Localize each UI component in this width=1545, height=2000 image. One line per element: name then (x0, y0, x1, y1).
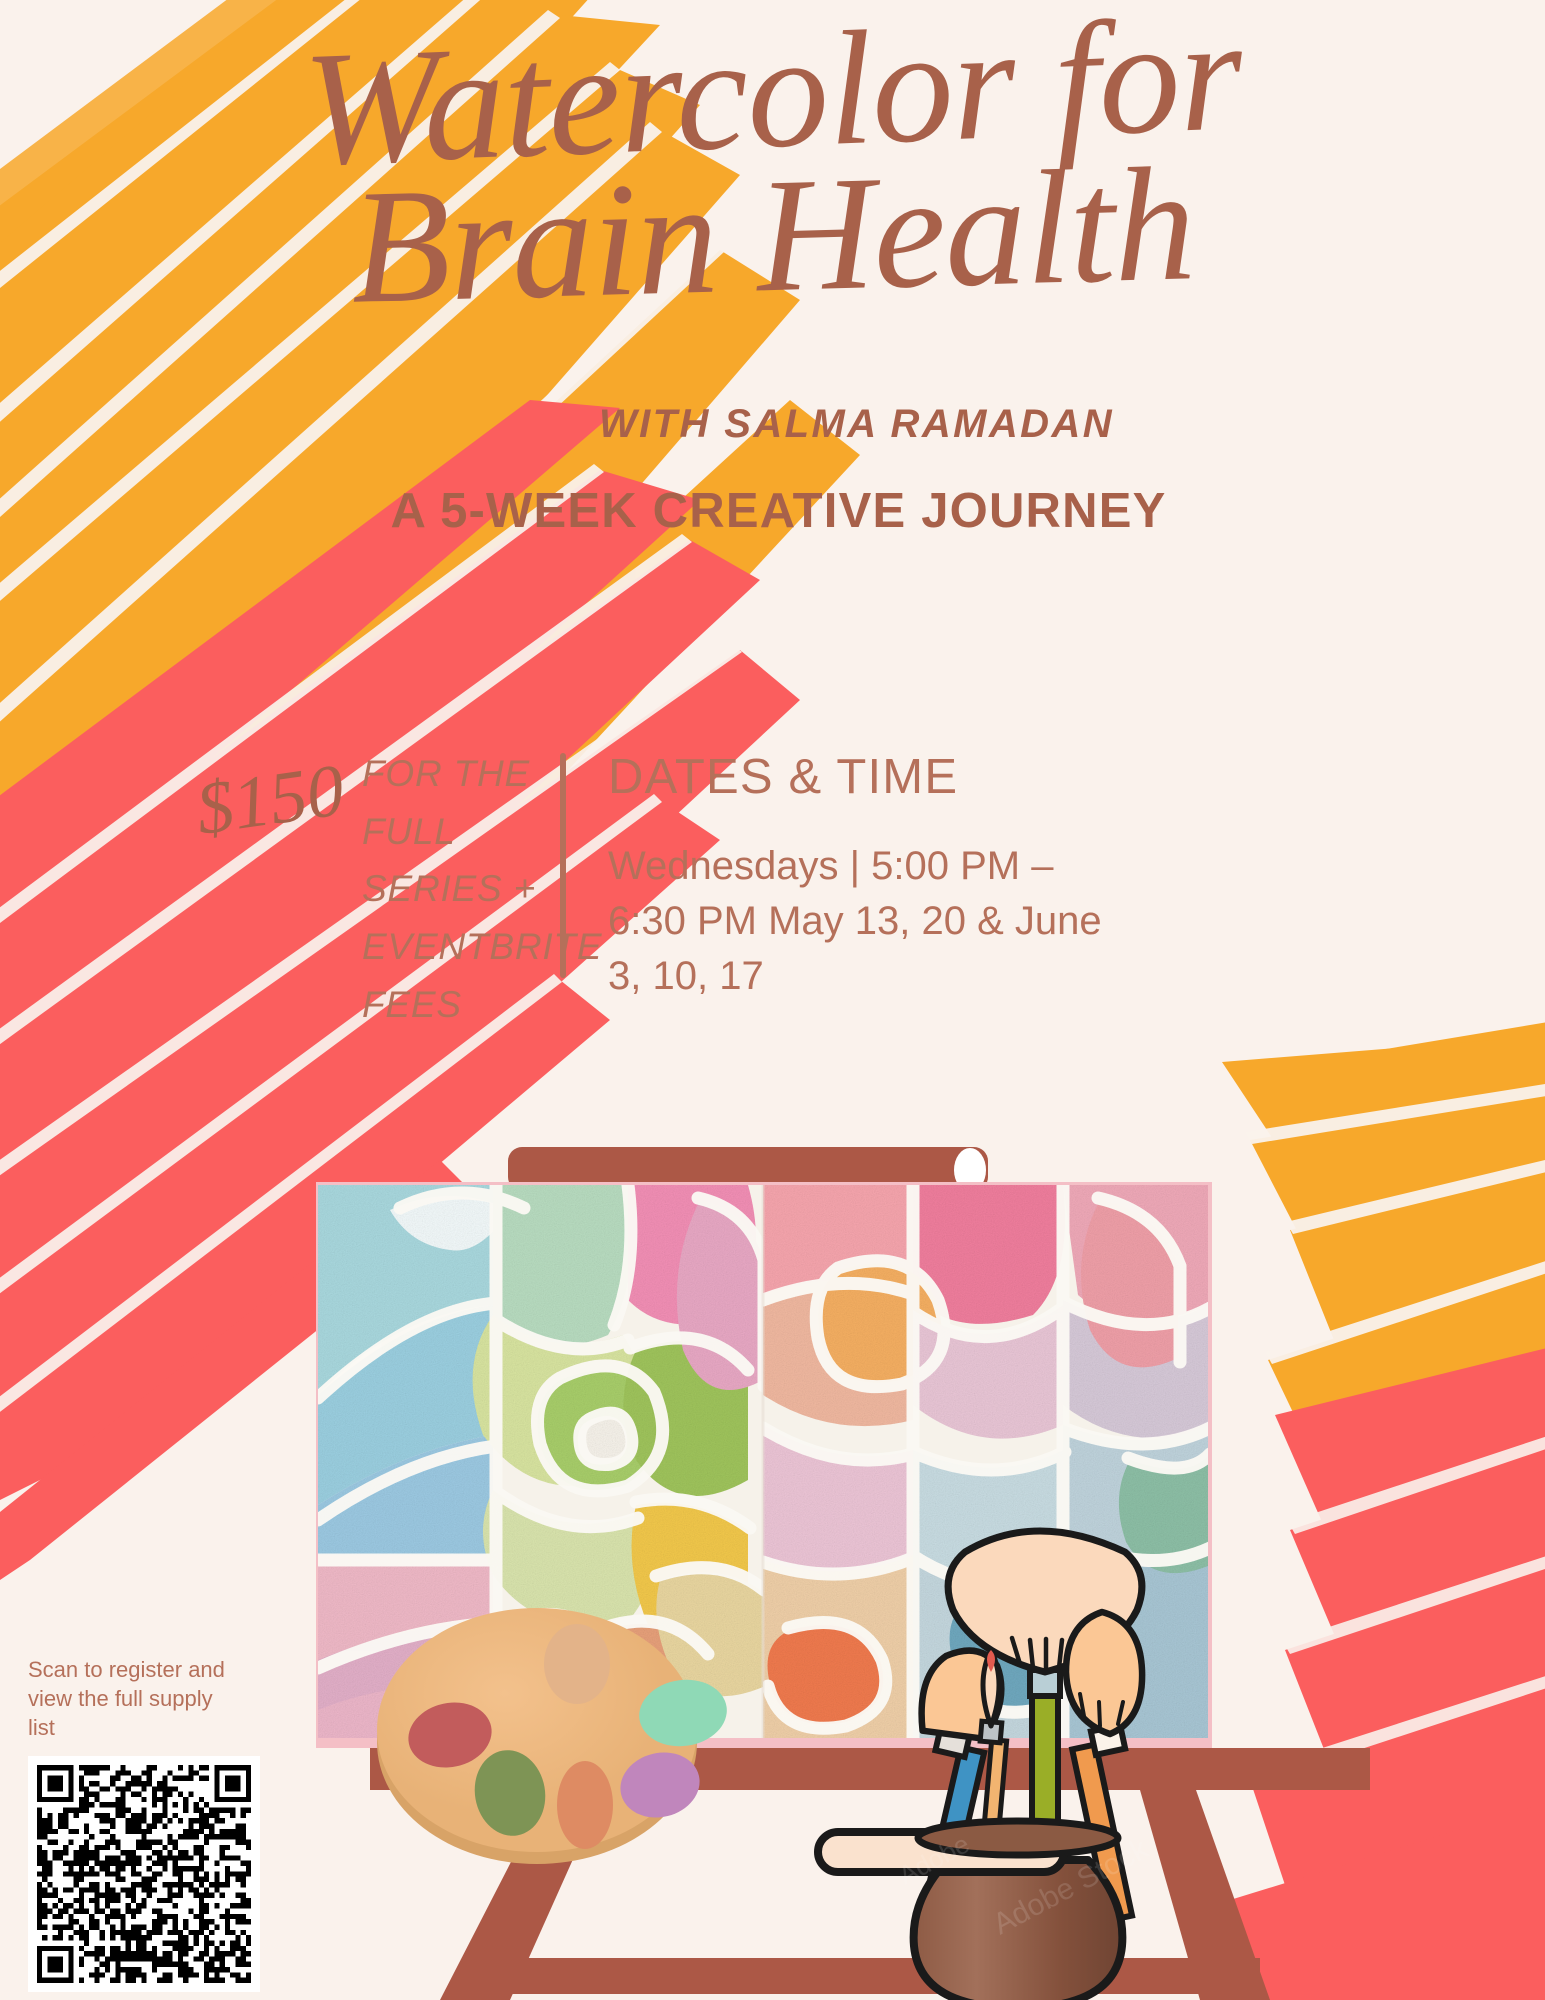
dates-heading: DATES & TIME (608, 749, 1128, 805)
easel-crossbar (500, 1958, 1260, 1994)
qr-code[interactable] (28, 1756, 260, 1992)
presenter-credit: WITH SALMA RAMADAN (0, 402, 1545, 447)
dates-body: Wednesdays | 5:00 PM – 6:30 PM May 13, 2… (608, 839, 1128, 1005)
palette-blob-orange (557, 1761, 613, 1849)
qr-caption: Scan to register and view the full suppl… (28, 1655, 233, 1742)
info-row: $150 FOR THE FULL SERIES + EVENTBRITE FE… (0, 745, 1545, 1034)
price-amount: $150 (192, 753, 349, 847)
qr-registration-block[interactable]: Scan to register and view the full suppl… (28, 1655, 260, 1992)
dates-column: DATES & TIME Wednesdays | 5:00 PM – 6:30… (566, 745, 1128, 1034)
price-column: $150 FOR THE FULL SERIES + EVENTBRITE FE… (0, 745, 560, 1034)
course-tagline: A 5-WEEK CREATIVE JOURNEY (0, 483, 1545, 539)
palette-thumb-hole (544, 1624, 610, 1704)
poster-canvas: Watercolor for Brain Health WITH SALMA R… (0, 0, 1545, 2000)
poster-headline: Watercolor for Brain Health (0, 18, 1545, 312)
